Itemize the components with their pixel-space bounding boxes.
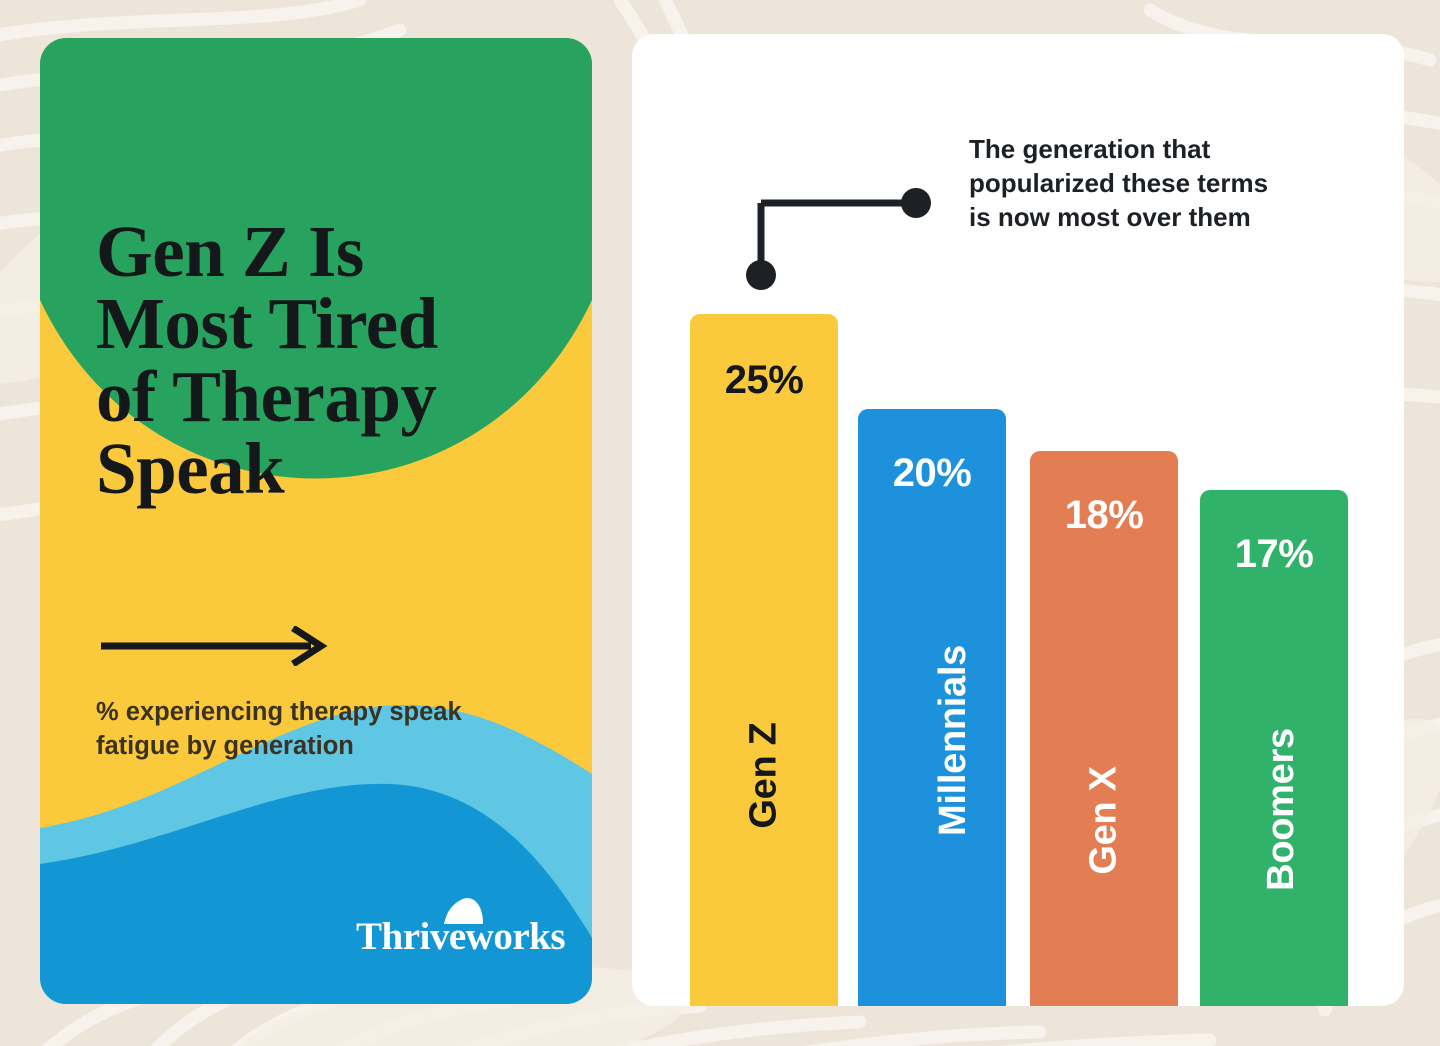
title-card: Gen Z Is Most Tired of Therapy Speak % e… (40, 38, 592, 1004)
infographic-page: Gen Z Is Most Tired of Therapy Speak % e… (0, 0, 1440, 1046)
bar-label-boomers: Boomers (1200, 788, 1348, 831)
bar-boomers[interactable]: 17% Boomers (1200, 490, 1348, 1006)
chart-card: 25% Gen Z 20% Millennials 18% Gen X (632, 34, 1404, 1006)
bar-value-gen-z: 25% (690, 358, 838, 403)
bar-label-gen-z: Gen Z (690, 754, 838, 797)
bar-value-gen-x: 18% (1030, 493, 1178, 538)
bar-label-millennials: Millennials (858, 719, 1006, 762)
logo-wordmark: Thriveworks (356, 914, 556, 959)
elbow-connector-with-dots (740, 134, 940, 294)
page-title: Gen Z Is Most Tired of Therapy Speak (96, 216, 546, 505)
bar-value-boomers: 17% (1200, 532, 1348, 577)
bar-gen-z[interactable]: 25% Gen Z (690, 314, 838, 1006)
thriveworks-logo: Thriveworks (356, 898, 556, 960)
connector-dot-start (746, 260, 776, 290)
bar-millennials[interactable]: 20% Millennials (858, 409, 1006, 1006)
subtitle: % experiencing therapy speak fatigue by … (96, 696, 566, 763)
bar-value-millennials: 20% (858, 451, 1006, 496)
bar-label-gen-x: Gen X (1030, 799, 1178, 842)
connector-dot-end (901, 188, 931, 218)
annotation-text: The generation that popularized these te… (969, 133, 1329, 234)
arrow-right-icon (97, 626, 337, 666)
bar-gen-x[interactable]: 18% Gen X (1030, 451, 1178, 1006)
